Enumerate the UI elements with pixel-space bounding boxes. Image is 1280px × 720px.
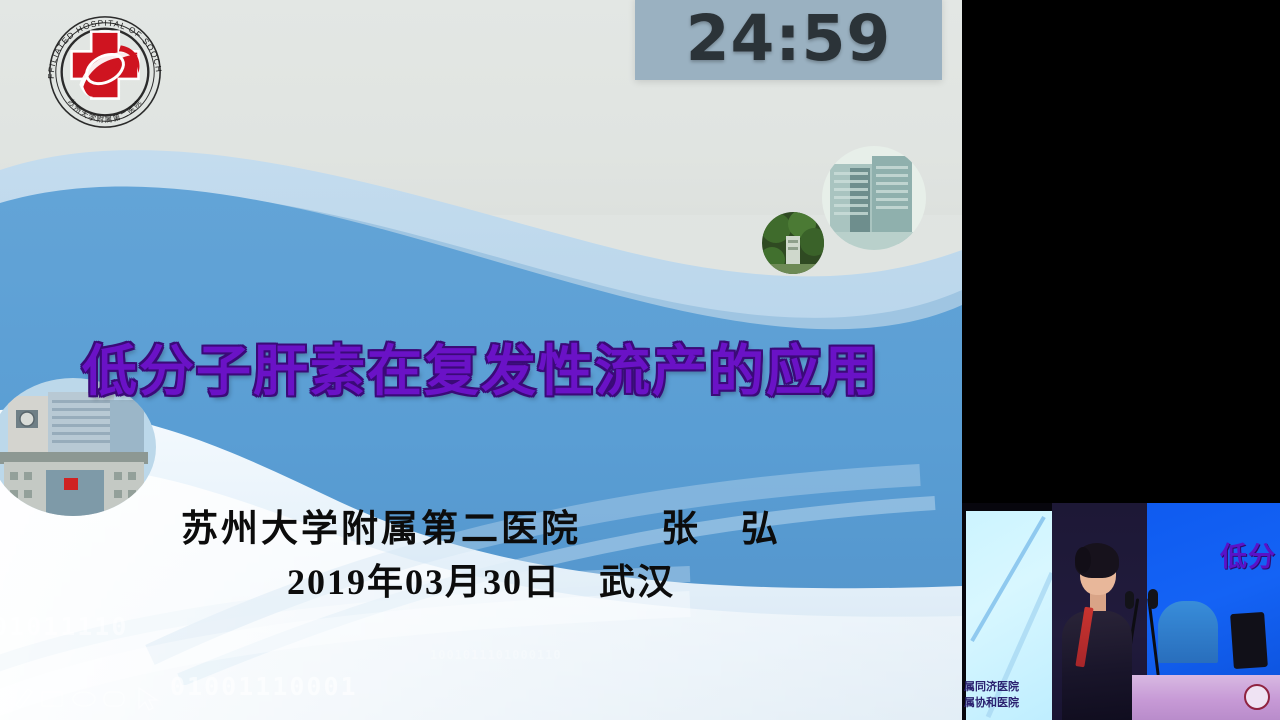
hospital-logo: THE SECOND AFFILIATED HOSPITAL OF SOOCHO… [36, 8, 174, 136]
pencil-icon [16, 689, 32, 708]
ellipse-icon [73, 692, 95, 706]
stage-banner-text: 属同济医院 属协和医院 [964, 679, 1019, 711]
hospital-garden-photo [762, 212, 824, 274]
countdown-timer-value: 24:59 [635, 0, 942, 80]
podium-emblem [1244, 684, 1270, 710]
projected-title-text: 低分 [1220, 535, 1276, 574]
microphone-head-left [1125, 591, 1134, 609]
rectangle-icon [42, 692, 62, 706]
speaker-body [1062, 611, 1132, 720]
decorative-icon-strip [12, 683, 177, 711]
cursor-arrow-icon [139, 688, 157, 710]
slide-title: 低分子肝素在复发性流产的应用 [0, 326, 962, 406]
video-panel-divider [962, 496, 1280, 503]
speaker-video-feed[interactable]: 低分 属同济医院 属协和医院 [962, 503, 1280, 720]
stage-banner-line-1: 属同济医院 [964, 679, 1019, 695]
countdown-timer: 24:59 [635, 0, 942, 80]
confidence-monitor [1230, 612, 1268, 669]
presentation-slide: THE SECOND AFFILIATED HOSPITAL OF SOOCHO… [0, 0, 962, 720]
presentation-date-location: 2019年03月30日 武汉 [0, 553, 962, 605]
microphone-head-right [1148, 589, 1158, 609]
binary-watermark-3: 1001011101000110 [430, 648, 562, 662]
binary-watermark-1: 01011110 [0, 612, 128, 641]
speaker-hair-bun [1075, 547, 1091, 573]
screen-root: THE SECOND AFFILIATED HOSPITAL OF SOOCHO… [0, 0, 1280, 720]
rounded-rect-icon [104, 692, 124, 706]
stage-banner-line-2: 属协和医院 [964, 695, 1019, 711]
hospital-tower-photo [822, 146, 926, 250]
binary-watermark-2: 01001110001 [170, 672, 358, 701]
presenter-organization: 苏州大学附属第二医院 张 弘 [0, 498, 962, 552]
projected-building-graphic [1158, 601, 1218, 663]
